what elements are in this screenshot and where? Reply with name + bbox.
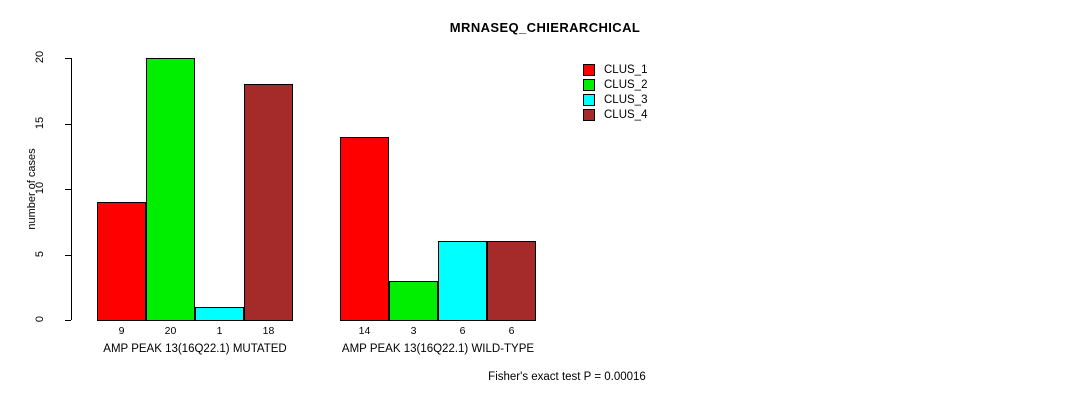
legend-item: CLUS_4	[583, 107, 647, 122]
bar-value-label: 9	[97, 325, 146, 337]
y-axis-tick-label: 20	[34, 37, 46, 77]
bar-value-label: 14	[340, 325, 389, 337]
statistical-annotation: Fisher's exact test P = 0.00016	[0, 371, 1090, 383]
bar	[487, 241, 536, 321]
y-axis-tick	[65, 320, 71, 321]
group-baseline	[97, 320, 293, 321]
bar	[97, 202, 146, 321]
bar-value-label: 6	[487, 325, 536, 337]
legend-item: CLUS_2	[583, 77, 647, 92]
y-axis-tick	[65, 58, 71, 59]
legend-swatch-icon	[583, 109, 595, 121]
bar	[244, 84, 293, 321]
y-axis-tick	[65, 124, 71, 125]
bar-value-label: 20	[146, 325, 195, 337]
legend: CLUS_1CLUS_2CLUS_3CLUS_4	[583, 62, 647, 122]
chart-figure: MRNASEQ_CHIERARCHICAL number of cases 05…	[0, 0, 1090, 400]
y-axis-tick-label: 0	[34, 299, 46, 339]
legend-item: CLUS_1	[583, 62, 647, 77]
bar	[340, 137, 389, 321]
y-axis-tick-label: 15	[34, 103, 46, 143]
legend-item-label: CLUS_3	[604, 94, 647, 106]
bar-value-label: 18	[244, 325, 293, 337]
y-axis-tick	[65, 255, 71, 256]
bar-value-label: 3	[389, 325, 438, 337]
bar-value-label: 1	[195, 325, 244, 337]
legend-item-label: CLUS_2	[604, 79, 647, 91]
bar	[438, 241, 487, 321]
plot-area: number of cases 05101520 920118AMP PEAK …	[0, 0, 1090, 400]
bar	[195, 307, 244, 321]
legend-swatch-icon	[583, 79, 595, 91]
y-axis-tick	[65, 189, 71, 190]
bar-value-label: 6	[438, 325, 487, 337]
legend-item-label: CLUS_1	[604, 64, 647, 76]
legend-item: CLUS_3	[583, 92, 647, 107]
group-baseline	[340, 320, 536, 321]
y-axis-line	[71, 58, 72, 320]
y-axis-tick-label: 5	[34, 234, 46, 274]
y-axis-tick-label: 10	[34, 168, 46, 208]
x-axis-group-label: AMP PEAK 13(16Q22.1) WILD-TYPE	[280, 343, 596, 355]
fisher-test-text: Fisher's exact test P = 0.00016	[488, 371, 646, 383]
bar	[389, 281, 438, 321]
legend-swatch-icon	[583, 64, 595, 76]
bar	[146, 58, 195, 321]
legend-item-label: CLUS_4	[604, 109, 647, 121]
legend-swatch-icon	[583, 94, 595, 106]
